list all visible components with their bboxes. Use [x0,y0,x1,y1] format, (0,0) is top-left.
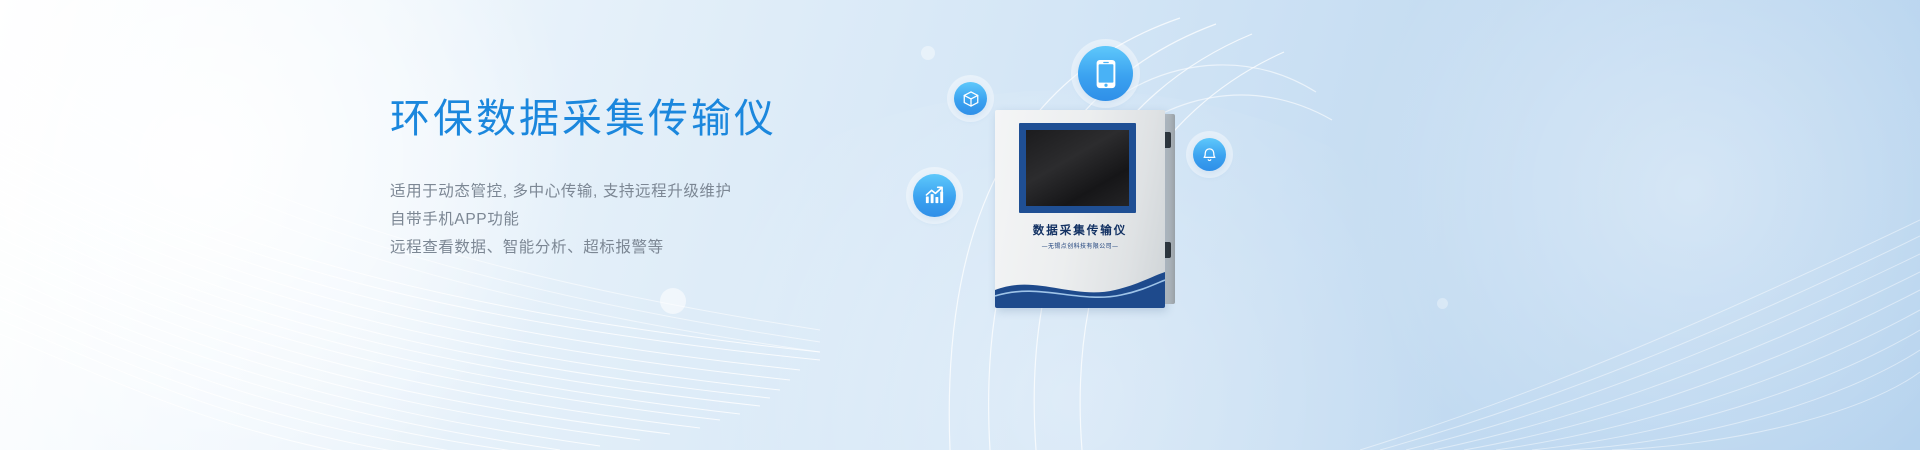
product-banner: 环保数据采集传输仪 适用于动态管控, 多中心传输, 支持远程升级维护 自带手机A… [0,0,1920,450]
device-label-block: 数据采集传输仪 —无锡点创科技有限公司— [995,222,1165,250]
product-illustration: 数据采集传输仪 —无锡点创科技有限公司— [880,0,1440,450]
chart-icon [913,174,956,217]
device-model-name: 数据采集传输仪 [995,222,1165,238]
device-company-name: —无锡点创科技有限公司— [995,241,1165,250]
phone-icon [1078,46,1133,101]
device-photo: 数据采集传输仪 —无锡点创科技有限公司— [995,110,1175,310]
device-screen [1019,123,1136,213]
alarm-icon [1193,138,1226,171]
box-icon [954,82,987,115]
device-body: 数据采集传输仪 —无锡点创科技有限公司— [995,110,1165,308]
decorative-dot-1 [660,288,686,314]
device-footer-wave [995,264,1165,308]
